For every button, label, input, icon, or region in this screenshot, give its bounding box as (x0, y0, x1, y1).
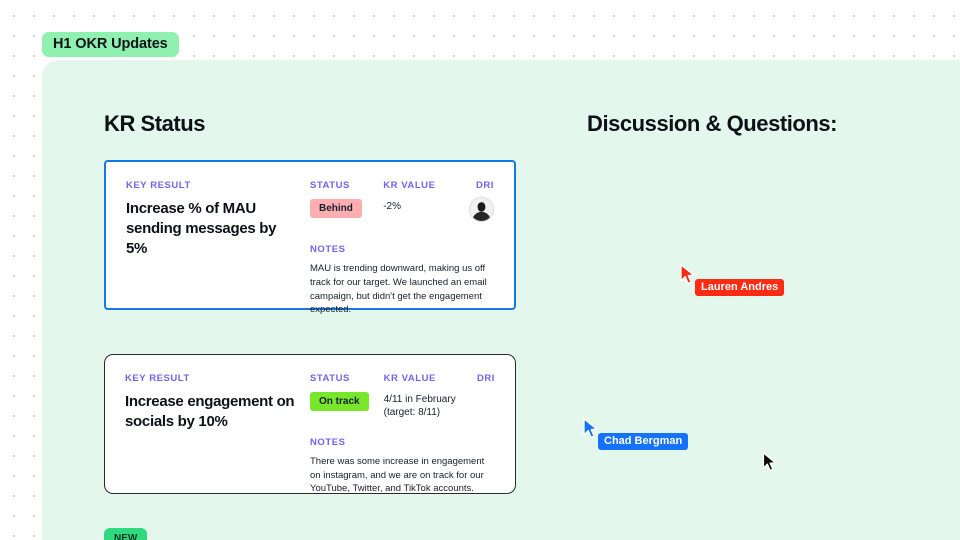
kr-card-left-column: KEY RESULT Increase % of MAU sending mes… (126, 180, 310, 292)
status-column: STATUS Behind (310, 180, 383, 218)
notes-label: NOTES (310, 437, 495, 448)
status-badge[interactable]: Behind (310, 199, 362, 218)
kr-value-text: -2% (383, 200, 460, 213)
kr-card[interactable]: KEY RESULT Increase % of MAU sending mes… (104, 160, 516, 310)
collaborator-name-label: Lauren Andres (695, 279, 784, 296)
kr-card[interactable]: KEY RESULT Increase engagement on social… (104, 354, 516, 494)
status-column: STATUS On track (310, 373, 384, 411)
avatar[interactable] (469, 197, 494, 222)
kr-card-right-column: STATUS On track KR VALUE 4/11 in Februar… (310, 373, 495, 477)
kr-metrics-row: STATUS Behind KR VALUE -2% DRI (310, 180, 494, 227)
dri-column: DRI (460, 180, 494, 227)
dri-column: DRI (461, 373, 495, 384)
collaborator-cursor: Chad Bergman (582, 418, 600, 445)
status-label: STATUS (310, 373, 384, 384)
kr-value-column: KR VALUE 4/11 in February (target: 8/11) (384, 373, 461, 420)
board-canvas[interactable]: KR Status Discussion & Questions: KEY RE… (42, 60, 960, 540)
kr-value-text: 4/11 in February (target: 8/11) (384, 393, 461, 420)
collaborator-cursor: Lauren Andres (679, 264, 697, 291)
avatar-photo-icon (470, 198, 493, 221)
collaborator-name-label: Chad Bergman (598, 433, 688, 450)
frame-label-badge[interactable]: H1 OKR Updates (42, 32, 179, 57)
key-result-label: KEY RESULT (125, 373, 300, 384)
status-badge[interactable]: On track (310, 392, 369, 411)
kr-metrics-row: STATUS On track KR VALUE 4/11 in Februar… (310, 373, 495, 420)
kr-card-right-column: STATUS Behind KR VALUE -2% DRI (310, 180, 494, 292)
dri-label: DRI (461, 373, 495, 384)
kr-title: Increase % of MAU sending messages by 5% (126, 199, 300, 258)
kr-card-left-column: KEY RESULT Increase engagement on social… (125, 373, 310, 477)
canvas-inner: KR Status Discussion & Questions: KEY RE… (42, 60, 960, 540)
notes-block: NOTES There was some increase in engagem… (310, 437, 495, 496)
notes-label: NOTES (310, 244, 494, 255)
dri-label: DRI (460, 180, 494, 191)
discussion-questions-heading: Discussion & Questions: (587, 111, 837, 137)
kr-value-label: KR VALUE (383, 180, 460, 191)
notes-text: MAU is trending downward, making us off … (310, 262, 494, 317)
mouse-pointer-icon (762, 452, 778, 474)
kr-title: Increase engagement on socials by 10% (125, 392, 300, 432)
kr-value-label: KR VALUE (384, 373, 461, 384)
notes-text: There was some increase in engagement on… (310, 455, 495, 496)
bottom-status-pill[interactable]: NEW (104, 528, 147, 540)
key-result-label: KEY RESULT (126, 180, 300, 191)
kr-value-column: KR VALUE -2% (383, 180, 460, 213)
kr-status-heading: KR Status (104, 111, 205, 137)
status-label: STATUS (310, 180, 383, 191)
notes-block: NOTES MAU is trending downward, making u… (310, 244, 494, 317)
